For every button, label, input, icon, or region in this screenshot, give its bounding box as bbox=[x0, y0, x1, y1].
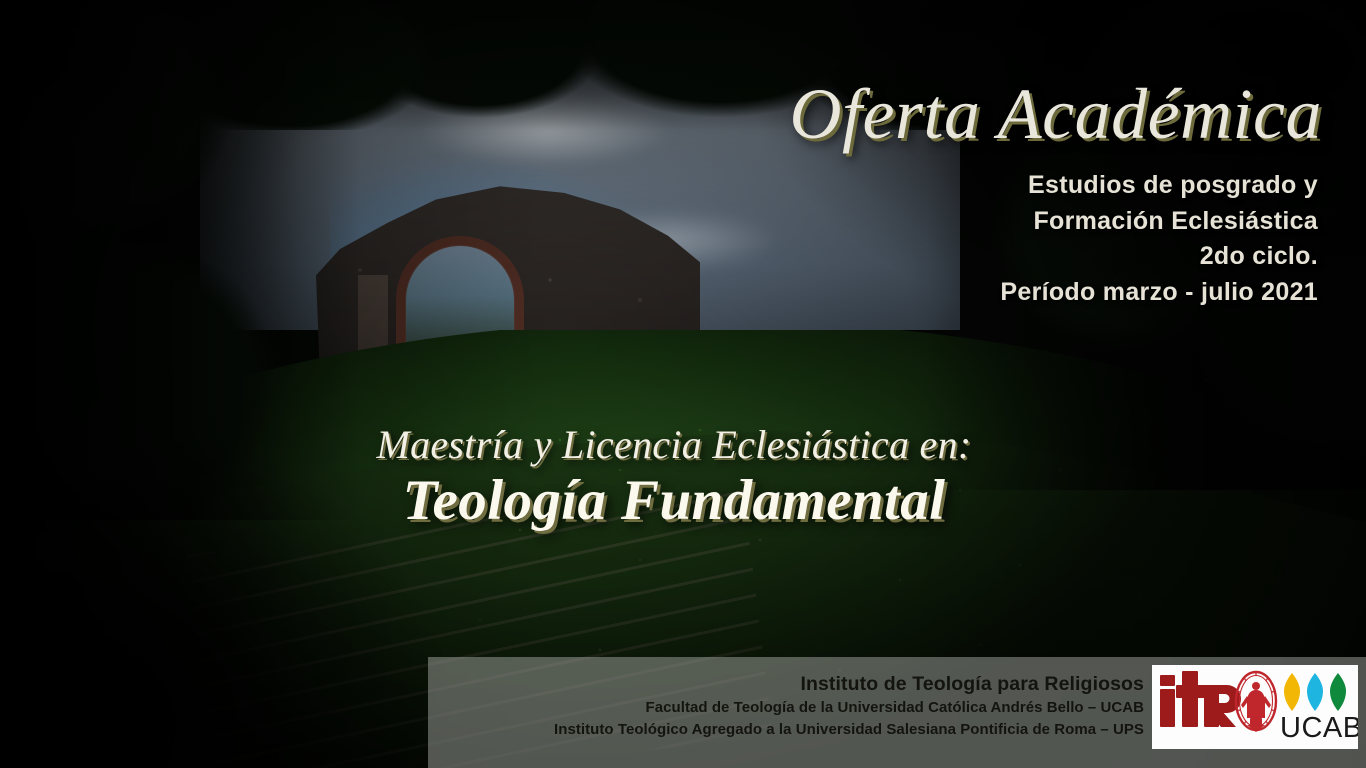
footer-institution-block: Instituto de Teología para Religiosos Fa… bbox=[554, 672, 1144, 740]
ucab-wordmark: UCAB bbox=[1280, 712, 1358, 744]
subhead-line-1: Estudios de posgrado y bbox=[1000, 168, 1318, 204]
footer-line-affiliation: Instituto Teológico Agregado a la Univer… bbox=[554, 719, 1144, 740]
subhead-line-2: Formación Eclesiástica bbox=[1000, 204, 1318, 240]
itr-logo bbox=[1160, 671, 1241, 727]
leaf-cyan bbox=[1307, 673, 1323, 711]
headline-title: Oferta Académica bbox=[789, 78, 1322, 150]
logo-box: UCAB bbox=[1152, 665, 1358, 749]
subhead-line-4: Período marzo - julio 2021 bbox=[1000, 275, 1318, 311]
leaf-green bbox=[1330, 673, 1346, 711]
combined-logos-svg: UCAB bbox=[1152, 665, 1358, 749]
poster: Oferta Académica Estudios de posgrado y … bbox=[0, 0, 1366, 768]
subhead-line-3: 2do ciclo. bbox=[1000, 239, 1318, 275]
ucab-leaf-emblems bbox=[1284, 673, 1346, 711]
footer-line-faculty: Facultad de Teología de la Universidad C… bbox=[554, 697, 1144, 718]
subhead-block: Estudios de posgrado y Formación Eclesiá… bbox=[1000, 168, 1318, 310]
leaf-yellow bbox=[1284, 673, 1300, 711]
ucab-seal bbox=[1236, 672, 1276, 732]
footer-line-institute: Instituto de Teología para Religiosos bbox=[554, 672, 1144, 697]
